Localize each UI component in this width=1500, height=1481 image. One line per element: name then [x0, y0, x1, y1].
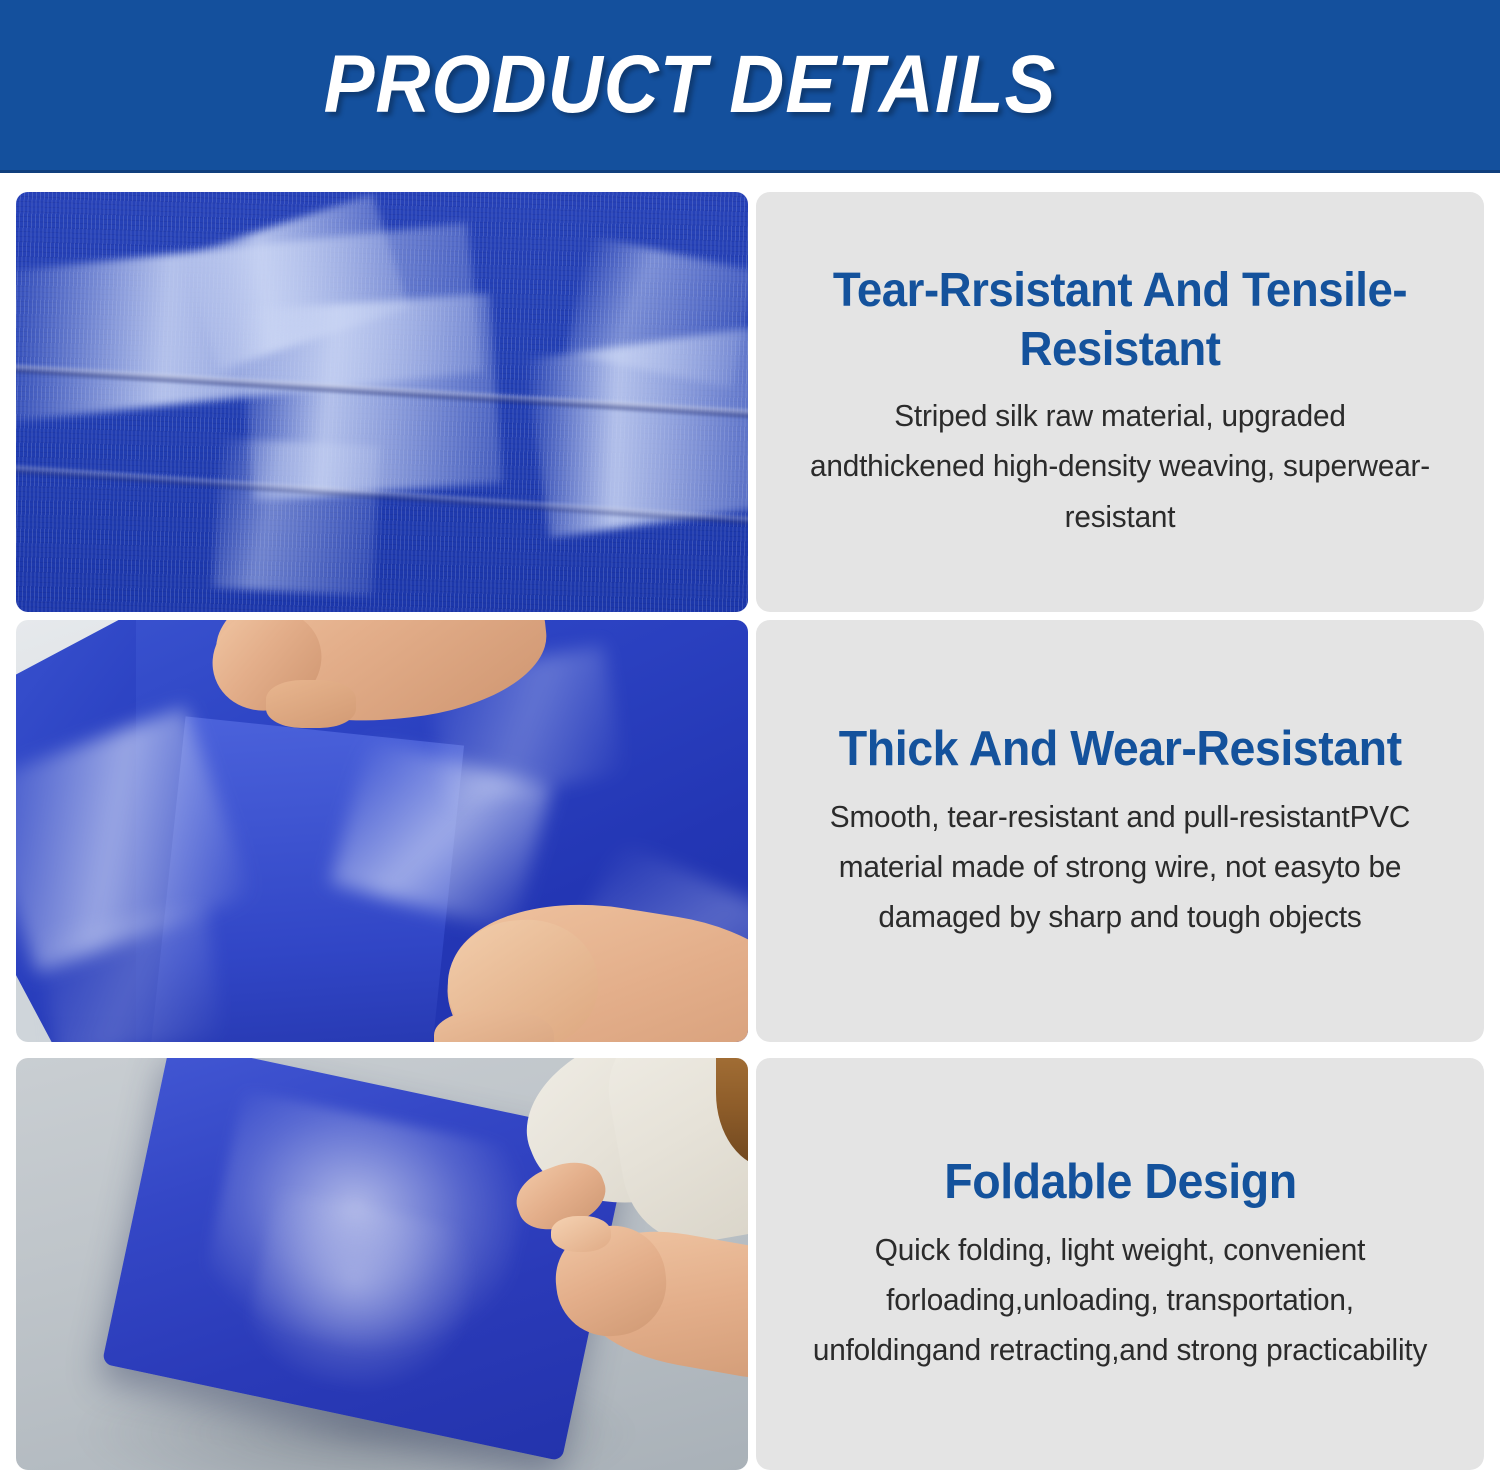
feature-description-2: Smooth, tear-resistant and pull-resistan… [803, 792, 1437, 943]
feature-image-1 [16, 192, 748, 612]
feature-description-1: Striped silk raw material, upgraded andt… [803, 391, 1437, 542]
feature-row-3: Foldable Design Quick folding, light wei… [0, 1058, 1500, 1470]
feature-text-2: Thick And Wear-Resistant Smooth, tear-re… [756, 620, 1484, 1042]
folded-tarp-photo [16, 1058, 748, 1470]
feature-text-1: Tear-Rrsistant And Tensile-Resistant Str… [756, 192, 1484, 612]
feature-description-3: Quick folding, light weight, convenient … [803, 1225, 1437, 1376]
finger-top-1 [266, 680, 356, 728]
feature-row-2: Thick And Wear-Resistant Smooth, tear-re… [0, 620, 1500, 1042]
finger-lower-1 [551, 1216, 611, 1252]
feature-image-3 [16, 1058, 748, 1470]
feature-title-2: Thick And Wear-Resistant [839, 720, 1402, 780]
feature-text-3: Foldable Design Quick folding, light wei… [756, 1058, 1484, 1470]
tarp-highlight-5 [38, 909, 224, 1042]
header-banner: PRODUCT DETAILS [0, 0, 1500, 173]
feature-title-3: Foldable Design [944, 1153, 1296, 1213]
hands-stretching-photo [16, 620, 748, 1042]
feature-row-1: Tear-Rrsistant And Tensile-Resistant Str… [0, 192, 1500, 612]
page-title: PRODUCT DETAILS [324, 38, 1057, 132]
product-details-infographic: PRODUCT DETAILS Tear-Rrsistant And Tensi… [0, 0, 1500, 1481]
sheen-6 [212, 438, 380, 596]
tarp-weave-photo [16, 192, 748, 612]
feature-image-2 [16, 620, 748, 1042]
feature-title-1: Tear-Rrsistant And Tensile-Resistant [807, 262, 1434, 379]
